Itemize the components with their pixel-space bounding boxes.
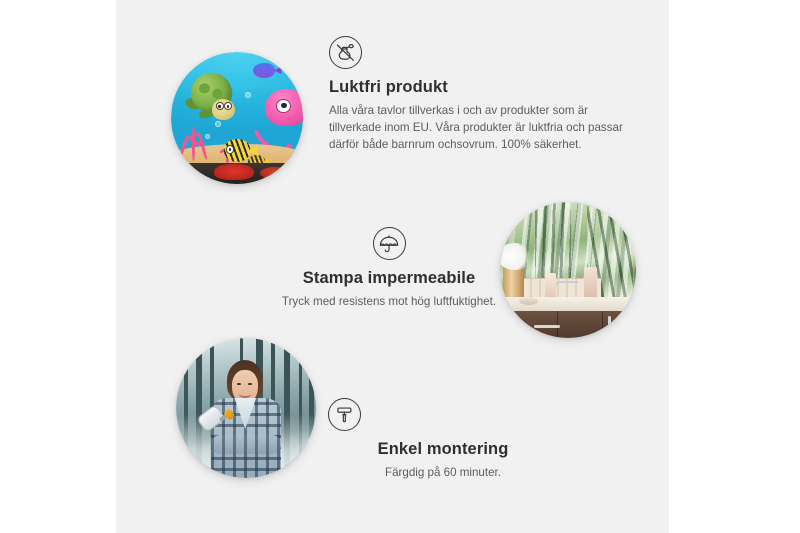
umbrella-icon <box>373 227 406 260</box>
feature-odour-free: Luktfri produkt Alla våra tavlor tillver… <box>329 36 629 153</box>
red-crab-icon <box>260 167 289 180</box>
feature-title: Luktfri produkt <box>329 78 629 97</box>
paint-roller-icon <box>328 398 361 431</box>
underwater-children-mural-photo <box>171 52 303 184</box>
sea-floor-dark-band <box>171 163 303 184</box>
yellow-striped-fish-icon <box>224 139 250 161</box>
feature-description: Färgdig på 60 minuter. <box>328 464 558 481</box>
feature-panel: Luktfri produkt Alla våra tavlor tillver… <box>116 0 669 533</box>
pink-coral-icon <box>176 123 213 163</box>
feature-description: Alla våra tavlor tillverkas i och av pro… <box>329 102 629 153</box>
feature-easy-mounting: Enkel montering Färgdig på 60 minuter. <box>328 398 558 481</box>
no-spray-bottle-icon <box>329 36 362 69</box>
feature-description: Tryck med resistens mot hög luftfuktighe… <box>214 293 564 310</box>
page-root: Luktfri produkt Alla våra tavlor tillver… <box>0 0 800 533</box>
woman-figure <box>210 360 283 478</box>
feature-title: Enkel montering <box>328 440 558 459</box>
feature-title: Stampa impermeabile <box>214 269 564 288</box>
wooden-vanity-cabinet <box>500 311 636 338</box>
octopus-icon <box>253 89 303 152</box>
feature-waterproof-print: Stampa impermeabile Tryck med resistens … <box>214 227 564 310</box>
woman-with-paint-roller-photo <box>176 338 316 478</box>
red-crab-icon <box>214 164 255 180</box>
sea-turtle-icon <box>184 73 242 123</box>
bubble-icon <box>245 92 251 98</box>
